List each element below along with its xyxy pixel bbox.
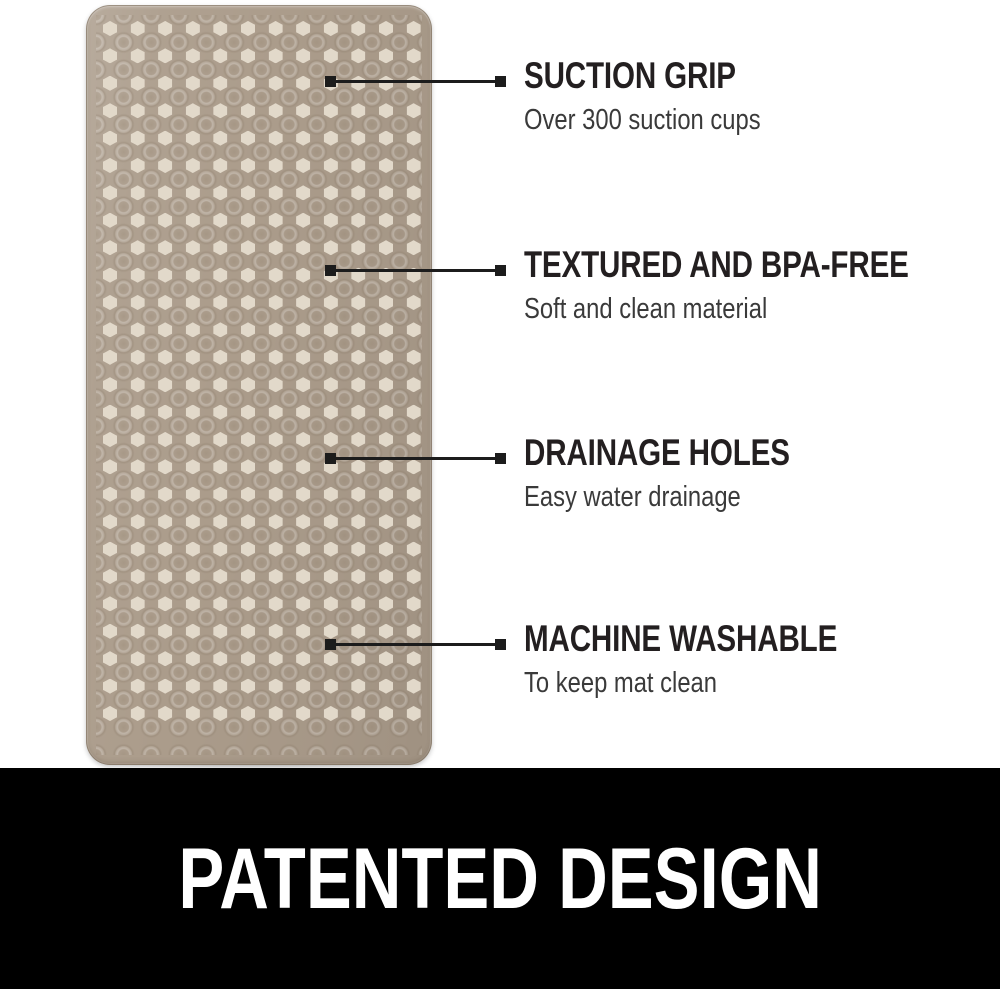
drainage-hole: [158, 350, 172, 365]
drainage-hole: [241, 405, 255, 420]
drainage-hole: [241, 21, 255, 36]
drainage-hole: [269, 377, 283, 392]
drainage-hole: [296, 268, 310, 283]
patented-design-banner: PATENTED DESIGN: [0, 768, 1000, 989]
drainage-hole: [324, 624, 338, 639]
drainage-hole: [269, 624, 283, 639]
drainage-hole: [103, 377, 117, 392]
drainage-hole: [296, 542, 310, 557]
drainage-hole: [269, 459, 283, 474]
drainage-hole: [296, 432, 310, 447]
drainage-hole: [213, 268, 227, 283]
drainage-hole: [241, 240, 255, 255]
product-infographic: SUCTION GRIPOver 300 suction cupsTEXTURE…: [0, 0, 1000, 989]
drainage-hole: [186, 596, 200, 611]
drainage-hole: [213, 158, 227, 173]
drainage-hole: [186, 213, 200, 228]
drainage-hole: [186, 405, 200, 420]
drainage-hole: [213, 514, 227, 529]
drainage-hole: [213, 350, 227, 365]
drainage-hole: [324, 405, 338, 420]
drainage-hole: [351, 651, 365, 666]
leader-end-dot: [495, 639, 506, 650]
drainage-hole: [241, 487, 255, 502]
drainage-hole: [213, 103, 227, 118]
drainage-hole: [158, 651, 172, 666]
drainage-hole: [324, 514, 338, 529]
drainage-hole: [379, 158, 393, 173]
drainage-hole: [186, 651, 200, 666]
leader-end-dot: [495, 453, 506, 464]
drainage-hole: [186, 624, 200, 639]
drainage-hole: [351, 377, 365, 392]
leader-anchor-dot: [325, 265, 336, 276]
drainage-hole: [158, 405, 172, 420]
drainage-hole: [131, 158, 145, 173]
drainage-hole: [407, 48, 421, 63]
callout-title: TEXTURED AND BPA-FREE: [524, 246, 909, 283]
drainage-hole: [241, 295, 255, 310]
drainage-hole: [241, 679, 255, 694]
drainage-hole: [324, 487, 338, 502]
drainage-hole: [241, 131, 255, 146]
drainage-hole: [407, 350, 421, 365]
drainage-hole: [186, 432, 200, 447]
drainage-hole: [241, 432, 255, 447]
drainage-hole: [351, 240, 365, 255]
drainage-hole: [186, 76, 200, 91]
drainage-hole: [158, 596, 172, 611]
drainage-hole: [351, 350, 365, 365]
drainage-hole: [131, 350, 145, 365]
drainage-hole: [131, 322, 145, 337]
drainage-hole: [131, 21, 145, 36]
drainage-hole: [269, 651, 283, 666]
drainage-hole: [158, 48, 172, 63]
drainage-hole: [241, 268, 255, 283]
drainage-hole: [269, 350, 283, 365]
drainage-hole: [186, 268, 200, 283]
drainage-hole: [158, 542, 172, 557]
drainage-hole: [131, 706, 145, 721]
drainage-hole: [296, 350, 310, 365]
drainage-hole: [351, 21, 365, 36]
drainage-hole: [379, 432, 393, 447]
drainage-hole: [131, 48, 145, 63]
drainage-hole: [158, 295, 172, 310]
drainage-hole: [213, 322, 227, 337]
drainage-hole: [379, 459, 393, 474]
drainage-hole: [131, 596, 145, 611]
drainage-hole: [213, 459, 227, 474]
drainage-hole: [269, 240, 283, 255]
drainage-hole: [407, 651, 421, 666]
drainage-hole: [379, 295, 393, 310]
leader-end-dot: [495, 265, 506, 276]
callout-title: MACHINE WASHABLE: [524, 620, 837, 657]
drainage-hole: [131, 651, 145, 666]
callout-subtitle: Over 300 suction cups: [524, 106, 761, 135]
drainage-hole: [351, 158, 365, 173]
drainage-hole: [296, 76, 310, 91]
drainage-hole: [186, 514, 200, 529]
drainage-hole: [324, 542, 338, 557]
drainage-hole: [186, 295, 200, 310]
drainage-hole: [158, 185, 172, 200]
drainage-hole: [158, 213, 172, 228]
drainage-hole: [351, 542, 365, 557]
drainage-hole: [131, 295, 145, 310]
drainage-hole: [269, 213, 283, 228]
drainage-hole: [269, 542, 283, 557]
drainage-hole: [241, 651, 255, 666]
drainage-hole: [407, 514, 421, 529]
drainage-hole: [379, 21, 393, 36]
leader-line: [330, 457, 500, 460]
drainage-hole: [158, 487, 172, 502]
drainage-hole: [186, 103, 200, 118]
drainage-hole: [324, 103, 338, 118]
drainage-hole: [269, 432, 283, 447]
drainage-hole: [407, 432, 421, 447]
drainage-hole: [379, 48, 393, 63]
drainage-hole: [158, 268, 172, 283]
drainage-hole: [407, 76, 421, 91]
drainage-hole: [186, 459, 200, 474]
drainage-hole: [158, 569, 172, 584]
drainage-hole: [351, 48, 365, 63]
drainage-hole: [269, 569, 283, 584]
drainage-hole: [186, 350, 200, 365]
drainage-hole: [158, 103, 172, 118]
drainage-hole: [131, 213, 145, 228]
drainage-hole: [407, 405, 421, 420]
drainage-hole: [186, 569, 200, 584]
drainage-hole: [158, 459, 172, 474]
drainage-hole: [296, 21, 310, 36]
drainage-hole: [324, 185, 338, 200]
drainage-hole: [379, 542, 393, 557]
drainage-hole: [379, 679, 393, 694]
drainage-hole: [324, 377, 338, 392]
drainage-hole: [351, 103, 365, 118]
drainage-hole: [269, 48, 283, 63]
drainage-hole: [241, 76, 255, 91]
drainage-hole: [131, 569, 145, 584]
drainage-hole: [103, 240, 117, 255]
drainage-hole: [269, 131, 283, 146]
drainage-hole: [296, 459, 310, 474]
drainage-hole: [296, 405, 310, 420]
drainage-hole: [213, 624, 227, 639]
drainage-hole: [269, 596, 283, 611]
drainage-hole: [103, 48, 117, 63]
drainage-hole: [213, 213, 227, 228]
drainage-hole: [103, 76, 117, 91]
drainage-hole: [379, 596, 393, 611]
drainage-hole: [213, 377, 227, 392]
drainage-hole: [324, 350, 338, 365]
drainage-hole: [103, 514, 117, 529]
drainage-hole: [296, 131, 310, 146]
drainage-hole: [103, 487, 117, 502]
drainage-hole: [324, 295, 338, 310]
drainage-hole: [103, 651, 117, 666]
drainage-hole: [103, 350, 117, 365]
drainage-hole: [213, 542, 227, 557]
drainage-hole: [407, 377, 421, 392]
drainage-hole: [131, 542, 145, 557]
drainage-hole: [379, 103, 393, 118]
drainage-hole: [103, 459, 117, 474]
drainage-hole: [379, 405, 393, 420]
drainage-hole: [213, 487, 227, 502]
drainage-hole: [213, 651, 227, 666]
drainage-hole: [213, 706, 227, 721]
drainage-hole: [103, 542, 117, 557]
drainage-hole: [324, 131, 338, 146]
drainage-hole: [296, 569, 310, 584]
drainage-hole: [241, 377, 255, 392]
drainage-hole: [213, 295, 227, 310]
leader-anchor-dot: [325, 76, 336, 87]
drainage-hole: [351, 185, 365, 200]
drainage-hole: [186, 131, 200, 146]
drainage-hole: [296, 295, 310, 310]
drainage-hole: [379, 240, 393, 255]
drainage-hole: [103, 268, 117, 283]
leader-line: [330, 269, 500, 272]
drainage-hole: [269, 268, 283, 283]
leader-anchor-dot: [325, 639, 336, 650]
drainage-hole: [241, 48, 255, 63]
drainage-hole: [241, 158, 255, 173]
drainage-hole: [269, 405, 283, 420]
drainage-hole: [241, 596, 255, 611]
drainage-hole: [296, 651, 310, 666]
drainage-hole: [186, 542, 200, 557]
drainage-hole: [103, 596, 117, 611]
drainage-hole: [379, 624, 393, 639]
drainage-hole: [103, 706, 117, 721]
drainage-hole: [351, 679, 365, 694]
drainage-hole: [269, 514, 283, 529]
drainage-hole: [158, 21, 172, 36]
drainage-hole: [351, 432, 365, 447]
drainage-hole: [407, 131, 421, 146]
drainage-hole: [407, 706, 421, 721]
drainage-hole: [351, 295, 365, 310]
drainage-hole: [213, 76, 227, 91]
drainage-hole: [407, 624, 421, 639]
drainage-hole: [186, 240, 200, 255]
drainage-hole: [324, 158, 338, 173]
drainage-hole: [407, 596, 421, 611]
drainage-hole: [324, 432, 338, 447]
drainage-hole: [131, 377, 145, 392]
drainage-hole: [103, 158, 117, 173]
drainage-hole: [296, 213, 310, 228]
drainage-hole: [296, 377, 310, 392]
drainage-hole: [213, 48, 227, 63]
leader-line: [330, 643, 500, 646]
drainage-hole: [296, 322, 310, 337]
drainage-hole: [213, 21, 227, 36]
drainage-hole: [324, 21, 338, 36]
drainage-hole: [379, 131, 393, 146]
drainage-hole: [407, 542, 421, 557]
drainage-hole: [324, 213, 338, 228]
bath-mat: [86, 5, 432, 765]
drainage-hole: [131, 487, 145, 502]
drainage-hole: [296, 240, 310, 255]
drainage-hole: [241, 103, 255, 118]
drainage-hole: [379, 322, 393, 337]
drainage-hole: [158, 514, 172, 529]
drainage-hole: [213, 679, 227, 694]
drainage-hole: [407, 158, 421, 173]
drainage-hole: [379, 569, 393, 584]
drainage-hole: [131, 240, 145, 255]
drainage-hole: [158, 322, 172, 337]
drainage-hole: [296, 185, 310, 200]
drainage-hole: [131, 405, 145, 420]
drainage-hole: [131, 131, 145, 146]
drainage-hole: [324, 48, 338, 63]
drainage-hole: [131, 624, 145, 639]
leader-anchor-dot: [325, 453, 336, 464]
drainage-hole: [379, 213, 393, 228]
drainage-hole: [296, 103, 310, 118]
callout-title: SUCTION GRIP: [524, 57, 755, 94]
drainage-hole: [158, 76, 172, 91]
callout-subtitle: Soft and clean material: [524, 295, 918, 324]
drainage-hole: [296, 596, 310, 611]
drainage-hole: [407, 487, 421, 502]
leader-end-dot: [495, 76, 506, 87]
callout-subtitle: To keep mat clean: [524, 669, 845, 698]
drainage-hole: [351, 322, 365, 337]
drainage-hole: [103, 432, 117, 447]
drainage-hole: [351, 131, 365, 146]
drainage-hole: [241, 624, 255, 639]
drainage-hole: [351, 487, 365, 502]
drainage-hole: [324, 322, 338, 337]
drainage-hole: [351, 596, 365, 611]
drainage-hole: [296, 706, 310, 721]
drainage-hole: [324, 240, 338, 255]
drainage-hole: [158, 706, 172, 721]
banner-title: PATENTED DESIGN: [178, 836, 821, 922]
drainage-hole: [379, 651, 393, 666]
drainage-hole: [241, 706, 255, 721]
drainage-hole: [351, 514, 365, 529]
drainage-hole: [213, 131, 227, 146]
drainage-hole: [241, 350, 255, 365]
drainage-hole: [158, 240, 172, 255]
callout-subtitle: Easy water drainage: [524, 483, 796, 512]
drainage-hole: [269, 76, 283, 91]
drainage-hole: [131, 103, 145, 118]
drainage-hole: [407, 103, 421, 118]
drainage-hole: [351, 459, 365, 474]
drainage-hole: [186, 322, 200, 337]
drainage-hole: [269, 295, 283, 310]
drainage-hole: [158, 432, 172, 447]
drainage-hole: [186, 679, 200, 694]
drainage-hole: [407, 185, 421, 200]
drainage-hole: [324, 679, 338, 694]
drainage-hole: [407, 240, 421, 255]
drainage-hole: [379, 706, 393, 721]
drainage-hole: [186, 706, 200, 721]
drainage-hole: [213, 185, 227, 200]
drainage-hole: [186, 377, 200, 392]
drainage-hole: [131, 679, 145, 694]
drainage-hole: [407, 21, 421, 36]
drainage-hole: [296, 514, 310, 529]
drainage-hole: [351, 706, 365, 721]
drainage-hole: [379, 377, 393, 392]
drainage-hole: [186, 21, 200, 36]
drainage-hole: [103, 103, 117, 118]
drainage-hole: [241, 213, 255, 228]
drainage-hole: [241, 569, 255, 584]
drainage-hole: [103, 405, 117, 420]
drainage-hole: [324, 596, 338, 611]
drainage-hole: [131, 432, 145, 447]
callout-title: DRAINAGE HOLES: [524, 434, 790, 471]
drainage-hole: [186, 487, 200, 502]
drainage-hole: [324, 569, 338, 584]
drainage-hole: [103, 213, 117, 228]
drainage-hole: [241, 514, 255, 529]
drainage-hole: [213, 405, 227, 420]
drainage-hole: [269, 679, 283, 694]
drainage-hole: [296, 48, 310, 63]
drainage-hole: [158, 158, 172, 173]
drainage-hole: [186, 185, 200, 200]
drainage-hole: [379, 487, 393, 502]
drainage-hole: [379, 514, 393, 529]
drainage-hole: [213, 432, 227, 447]
drainage-hole: [213, 596, 227, 611]
drainage-hole: [324, 651, 338, 666]
drainage-hole: [296, 158, 310, 173]
drainage-hole: [407, 295, 421, 310]
drainage-hole: [269, 706, 283, 721]
product-image-area: [0, 0, 470, 768]
drainage-hole: [407, 213, 421, 228]
drainage-hole: [351, 76, 365, 91]
drainage-hole: [131, 268, 145, 283]
drainage-hole: [351, 624, 365, 639]
drainage-hole: [269, 21, 283, 36]
drainage-hole: [186, 48, 200, 63]
drainage-hole: [379, 76, 393, 91]
drainage-hole: [158, 679, 172, 694]
drainage-hole: [407, 679, 421, 694]
drainage-hole: [407, 322, 421, 337]
drainage-hole: [324, 706, 338, 721]
drainage-hole: [269, 487, 283, 502]
drainage-hole: [351, 213, 365, 228]
drainage-hole: [241, 185, 255, 200]
drainage-hole: [269, 322, 283, 337]
drainage-hole: [131, 459, 145, 474]
drainage-hole: [241, 322, 255, 337]
drainage-hole: [103, 569, 117, 584]
